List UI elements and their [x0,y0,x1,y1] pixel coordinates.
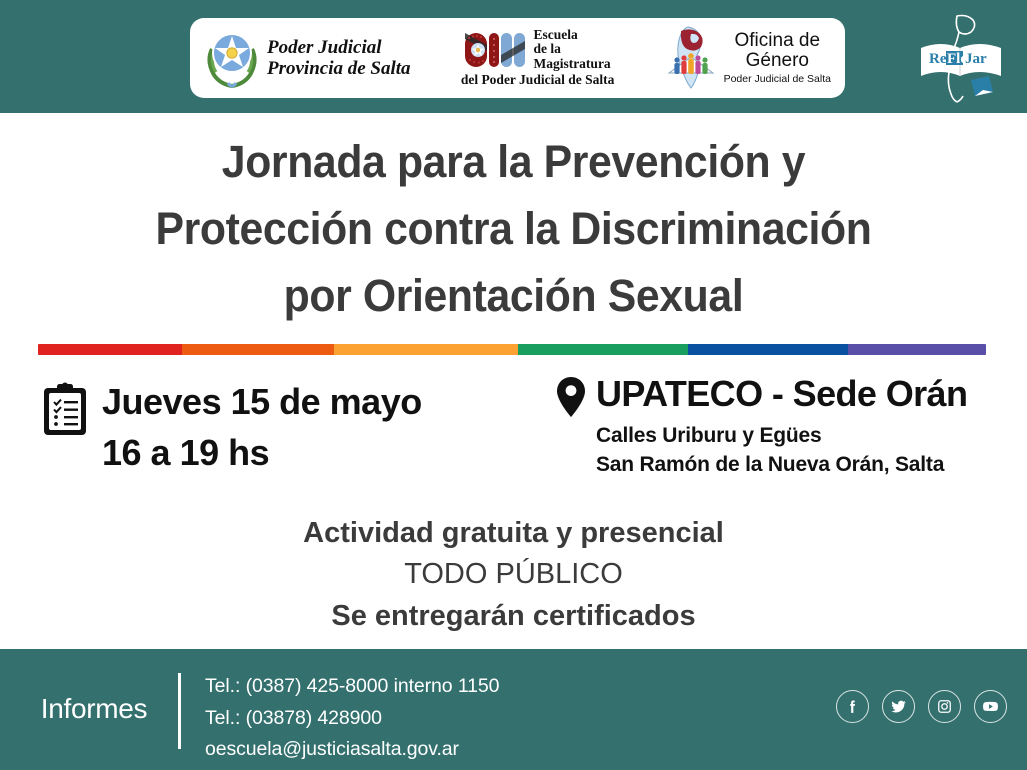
poder-judicial-text: Poder Judicial Provincia de Salta [267,37,411,80]
logo-oficina-genero: Oficina de Género Poder Judicial de Salt… [665,25,831,91]
event-notes: Actividad gratuita y presencial TODO PÚB… [0,513,1027,637]
og-line1: Oficina de [724,31,831,51]
contact-phone-1: Tel.: (0387) 425-8000 interno 1150 [205,671,499,703]
address-line-1: Calles Uriburu y Egües [596,422,967,451]
twitter-icon [890,698,907,715]
em-line1: Escuela [533,28,610,42]
rainbow-segment [518,344,689,355]
footer-divider [178,673,181,749]
event-info-row: Jueves 15 de mayo 16 a 19 hs UPATECO - S… [0,368,1027,493]
informes-label: Informes [14,693,174,725]
event-date-text: Jueves 15 de mayo 16 a 19 hs [102,376,422,478]
facebook-icon [844,698,861,715]
event-date-block: Jueves 15 de mayo 16 a 19 hs [42,376,422,478]
note-line-3: Se entregarán certificados [0,596,1027,637]
twitter-link[interactable] [882,690,915,723]
address-line-2: San Ramón de la Nueva Orán, Salta [596,451,967,480]
escuela-magistratura-emblem-icon [464,29,528,71]
youtube-icon [982,698,999,715]
svg-text:Re: Re [929,51,947,67]
og-line3: Poder Judicial de Salta [724,74,831,85]
rainbow-segment [688,344,847,355]
header-band: Poder Judicial Provincia de Salta [0,0,1027,113]
rainbow-segment [38,344,182,355]
social-links [836,690,1007,723]
pj-line2: Provincia de Salta [267,58,411,79]
salta-coat-of-arms-icon [204,27,260,89]
rainbow-segment [334,344,518,355]
poster-title: Jornada para la Prevención y Protección … [26,128,1002,329]
event-place-address: Calles Uriburu y Egües San Ramón de la N… [596,422,967,479]
note-line-2: TODO PÚBLICO [0,554,1027,595]
pride-rainbow-bar [38,344,986,355]
rainbow-segment [848,344,986,355]
og-line2: Género [724,51,831,71]
title-line-1: Jornada para la Prevención y [26,128,1002,195]
note-line-1: Actividad gratuita y presencial [0,513,1027,554]
institution-logo-card: Poder Judicial Provincia de Salta [190,18,845,98]
event-time-line: 16 a 19 hs [102,427,422,478]
event-place-title: UPATECO - Sede Orán [596,374,967,414]
instagram-link[interactable] [928,690,961,723]
map-pin-icon [556,376,586,418]
facebook-link[interactable] [836,690,869,723]
title-line-3: por Orientación Sexual [26,262,1002,329]
title-line-2: Protección contra la Discriminación [26,195,1002,262]
em-line4: del Poder Judicial de Salta [461,72,615,88]
event-date-line-1: Jueves 15 de mayo [102,376,422,427]
clipboard-checklist-icon [42,382,88,437]
logo-escuela-magistratura: Escuela de la Magistratura del Poder Jud… [461,28,615,88]
em-text: Escuela de la Magistratura [533,28,610,71]
contact-phone-2: Tel.: (03878) 428900 [205,703,499,735]
pj-line1: Poder Judicial [267,37,411,58]
instagram-icon [936,698,953,715]
event-place-block: UPATECO - Sede Orán Calles Uriburu y Egü… [556,374,967,479]
em-line3: Magistratura [533,57,610,71]
poster-root: Poder Judicial Provincia de Salta [0,0,1027,770]
logo-poder-judicial: Poder Judicial Provincia de Salta [204,27,411,89]
svg-text:Jar: Jar [965,51,987,67]
reflejar-logo-icon: Re Fle Jar [913,10,1009,106]
rainbow-segment [182,344,334,355]
oficina-genero-text: Oficina de Género Poder Judicial de Salt… [724,31,831,84]
em-top-row: Escuela de la Magistratura [464,28,610,71]
em-line2: de la [533,42,610,56]
youtube-link[interactable] [974,690,1007,723]
contact-email[interactable]: oescuela@justiciasalta.gov.ar [205,734,499,766]
footer-contact: Tel.: (0387) 425-8000 interno 1150 Tel.:… [205,671,499,766]
event-place-head: UPATECO - Sede Orán [556,374,967,418]
argentina-map-people-icon [665,25,717,91]
